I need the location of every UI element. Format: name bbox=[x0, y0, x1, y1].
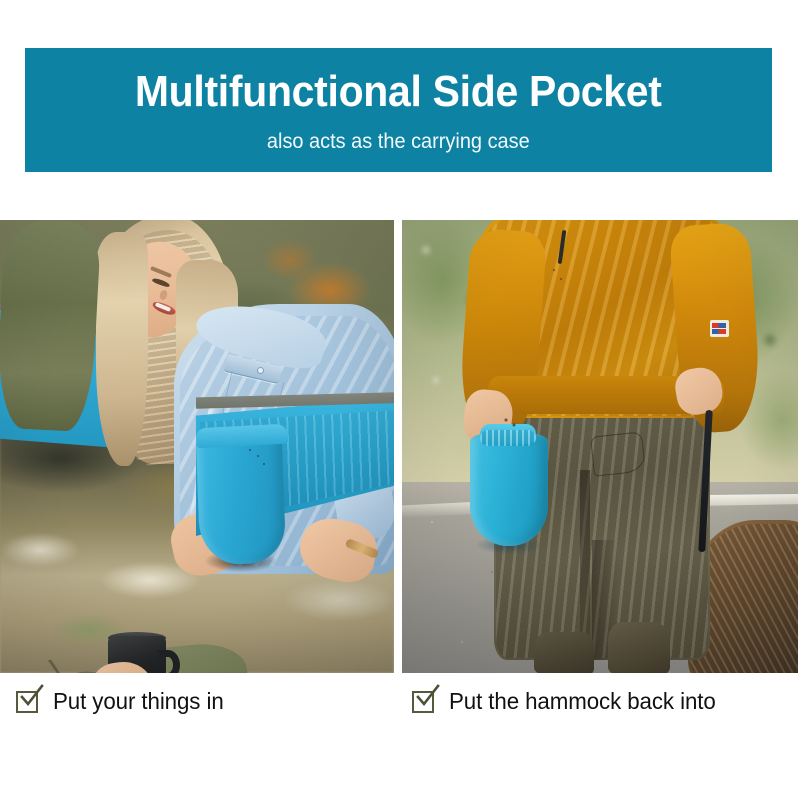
photo-row bbox=[0, 220, 800, 673]
boot-right bbox=[608, 622, 670, 673]
caption-row: Put your things in Put the hammock back … bbox=[0, 679, 800, 723]
hair-front-lock bbox=[96, 232, 148, 466]
checkmark-icon bbox=[18, 684, 44, 710]
twigs bbox=[0, 660, 180, 673]
boot-left bbox=[534, 632, 594, 673]
checkbox-checked-icon bbox=[412, 689, 436, 713]
caption-left: Put your things in bbox=[16, 679, 229, 723]
caption-left-label: Put your things in bbox=[53, 688, 224, 714]
stuff-sack bbox=[470, 434, 548, 546]
photo-right-man-carrying-sack bbox=[402, 220, 798, 673]
page-title: Multifunctional Side Pocket bbox=[135, 66, 662, 118]
leg-front bbox=[0, 220, 101, 432]
checkmark-icon bbox=[414, 684, 440, 710]
shirt-button bbox=[258, 368, 263, 373]
pocket-drawcord bbox=[246, 446, 270, 472]
hammock-side-pocket bbox=[196, 431, 287, 566]
checkbox-checked-icon bbox=[16, 689, 40, 713]
sack-gather bbox=[480, 430, 536, 446]
product-feature-card: Multifunctional Side Pocket also acts as… bbox=[0, 0, 800, 800]
caption-right-label: Put the hammock back into bbox=[449, 688, 716, 714]
caption-right: Put the hammock back into bbox=[412, 679, 724, 723]
brand-logo-patch bbox=[710, 320, 729, 337]
jacket-drawcord bbox=[550, 266, 566, 284]
photo-left-woman-in-hammock bbox=[0, 220, 394, 673]
sack-drawcord bbox=[502, 416, 518, 430]
scene-woman-hammock bbox=[0, 220, 394, 673]
page-subtitle: also acts as the carrying case bbox=[267, 129, 530, 155]
scene-man-trail bbox=[402, 220, 798, 673]
header-banner: Multifunctional Side Pocket also acts as… bbox=[25, 48, 772, 172]
